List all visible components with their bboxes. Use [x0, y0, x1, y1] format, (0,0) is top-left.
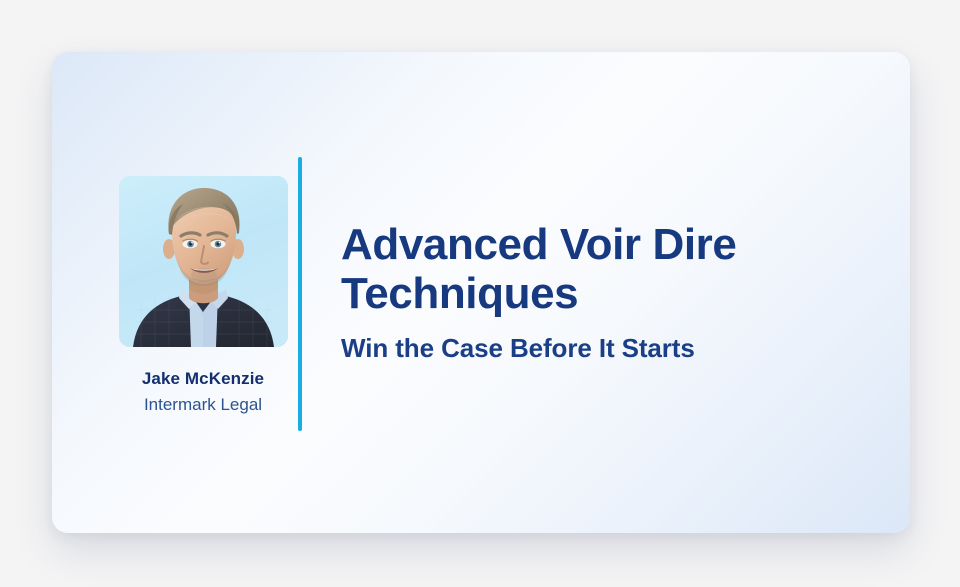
- slide-title: Advanced Voir Dire Techniques: [341, 220, 861, 319]
- speaker-name: Jake McKenzie: [93, 367, 313, 392]
- speaker-block: Jake McKenzie Intermark Legal: [93, 176, 313, 417]
- accent-divider-line: [298, 157, 302, 431]
- title-block: Advanced Voir Dire Techniques Win the Ca…: [341, 220, 861, 364]
- slide-subtitle: Win the Case Before It Starts: [341, 333, 861, 364]
- headshot-illustration: [119, 176, 288, 347]
- speaker-organization: Intermark Legal: [93, 392, 313, 418]
- presentation-slide-card: Jake McKenzie Intermark Legal Advanced V…: [52, 52, 910, 533]
- speaker-headshot-photo: [119, 176, 288, 347]
